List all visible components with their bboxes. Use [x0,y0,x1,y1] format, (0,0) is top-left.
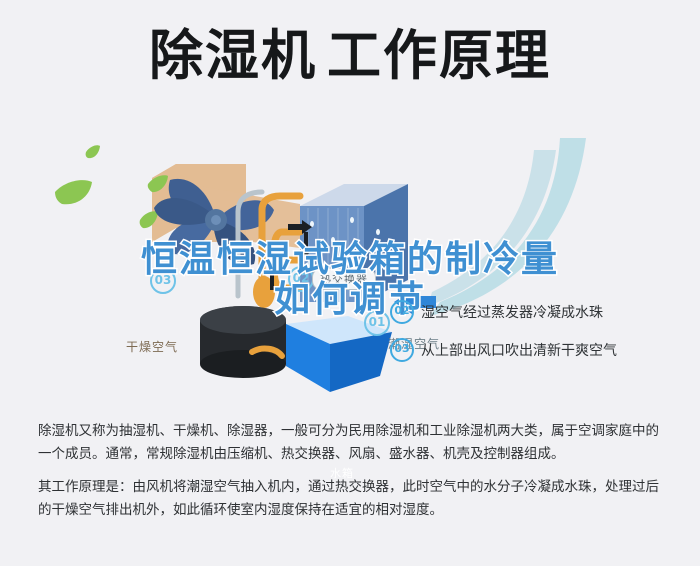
body-paragraph-1: 除湿机又称为抽湿机、干燥机、除湿器，一般可分为民用除湿机和工业除湿机两大类，属于… [38,420,668,466]
step-number-03: 03 [390,338,414,362]
body-paragraph-2: 其工作原理是：由风机将潮湿空气抽入机内，通过热交换器，此时空气中的水分子冷凝成水… [38,476,668,522]
body-copy: 除湿机又称为抽湿机、干燥机、除湿器，一般可分为民用除湿机和工业除湿机两大类，属于… [38,420,668,532]
step-item-03: 03 从上部出风口吹出清新干爽空气 [390,338,617,362]
fan-hub-inner [211,215,221,225]
badge-02: 02 [288,266,314,292]
step-number-02: 02 [390,300,414,324]
label-dry-air: 干燥空气 [126,338,178,355]
page-root: 除湿机工作原理 [0,0,700,566]
compressor-icon [200,306,286,378]
label-heat-exchanger: 热交换器 [312,268,376,290]
step-item-02: 02 湿空气经过蒸发器冷凝成水珠 [390,300,603,324]
step-text-03: 从上部出风口吹出清新干爽空气 [421,340,617,360]
page-title-part2: 工作原理 [327,24,551,87]
page-title: 除湿机工作原理 [149,28,551,85]
badge-03: 03 [150,268,176,294]
leaf-icon-2 [86,145,100,158]
step-text-02: 湿空气经过蒸发器冷凝成水珠 [421,302,603,322]
page-header: 除湿机工作原理 [0,28,700,85]
leaf-icon-1 [55,180,92,204]
leaf-icon-group [55,145,168,228]
badge-01: 01 [364,310,390,336]
page-title-part1: 除湿机 [149,24,317,87]
